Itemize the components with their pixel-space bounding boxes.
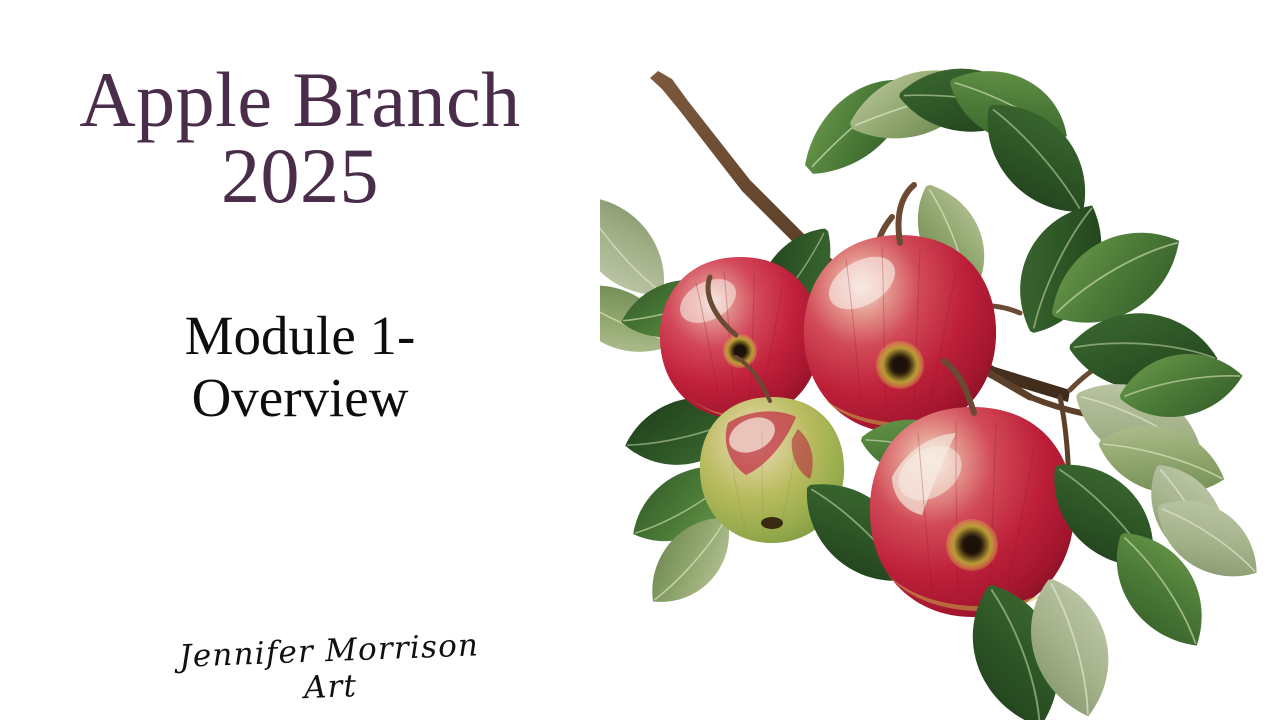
page-subtitle: Module 1- Overview (0, 305, 600, 428)
slide: Apple Branch 2025 Module 1- Overview Jen… (0, 0, 1280, 720)
apple-stem (899, 185, 914, 243)
text-column: Apple Branch 2025 Module 1- Overview Jen… (0, 0, 600, 720)
apple-branch-illustration (600, 45, 1280, 720)
apple-top-left (660, 257, 820, 419)
artist-signature: Jennifer Morrison Art (149, 626, 511, 712)
page-title: Apple Branch 2025 (0, 62, 600, 215)
